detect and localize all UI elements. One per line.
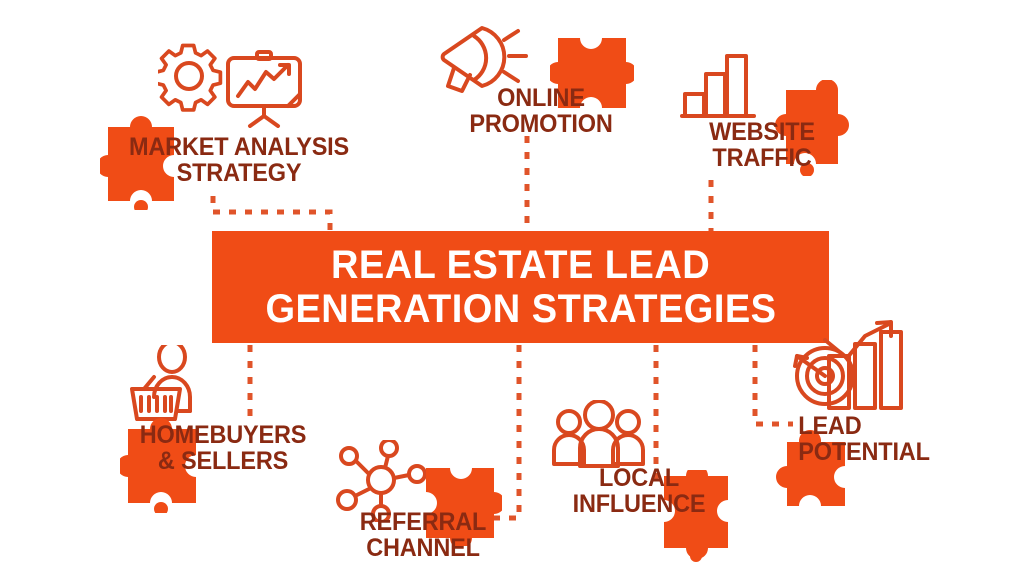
central-banner: REAL ESTATE LEAD GENERATION STRATEGIES: [212, 231, 829, 343]
node-lead-potential[interactable]: LEAD POTENTIAL: [775, 318, 960, 503]
node-label-homebuyers-sellers: HOMEBUYERS & SELLERS: [134, 423, 313, 474]
node-online-promotion[interactable]: ONLINE PROMOTION: [430, 12, 652, 137]
banner-title-line-2: GENERATION STRATEGIES: [265, 287, 776, 331]
gear-icon: [158, 40, 228, 114]
node-label-website-traffic: WEBSITE TRAFFIC: [679, 120, 844, 171]
node-label-online-promotion: ONLINE PROMOTION: [437, 86, 646, 137]
bar-chart-icon: [680, 52, 756, 124]
connector-market-analysis: [213, 196, 330, 231]
node-label-local-influence: LOCAL INFLUENCE: [552, 466, 727, 517]
node-local-influence[interactable]: LOCAL INFLUENCE: [550, 400, 730, 540]
node-website-traffic[interactable]: WEBSITE TRAFFIC: [680, 52, 850, 182]
node-homebuyers-sellers[interactable]: HOMEBUYERS & SELLERS: [120, 345, 320, 485]
node-label-lead-potential: LEAD POTENTIAL: [798, 414, 963, 465]
target-growth-chart-icon: [785, 318, 915, 423]
node-label-market-analysis-strategy: MARKET ANALYSIS STRATEGY: [122, 135, 357, 186]
infographic-canvas: REAL ESTATE LEAD GENERATION STRATEGIES: [0, 0, 1024, 574]
presentation-chart-icon: [224, 48, 310, 128]
node-label-referral-channel: REFERRAL CHANNEL: [337, 510, 510, 561]
banner-title-line-1: REAL ESTATE LEAD: [331, 243, 710, 287]
people-group-icon: [552, 400, 646, 472]
shopper-basket-icon: [126, 345, 218, 427]
node-referral-channel[interactable]: REFERRAL CHANNEL: [335, 440, 515, 570]
node-market-analysis-strategy[interactable]: MARKET ANALYSIS STRATEGY: [100, 40, 362, 200]
